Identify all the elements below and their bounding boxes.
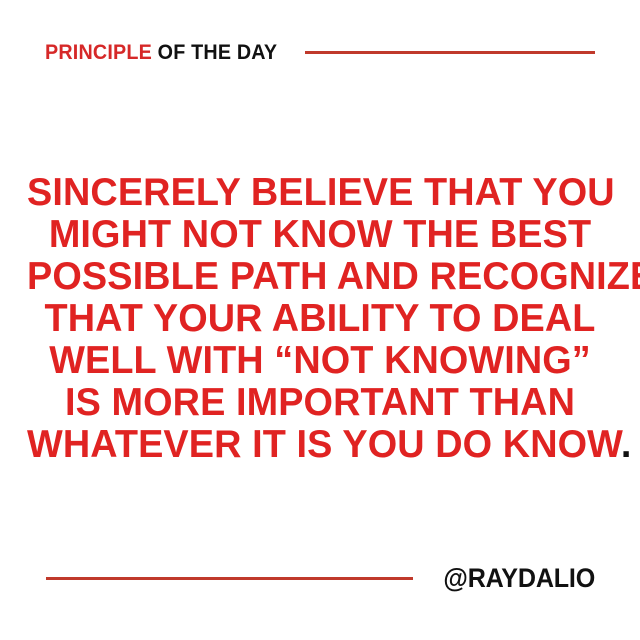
header-divider-rule	[305, 51, 595, 54]
quote-line: MIGHT NOT KNOW THE BEST	[27, 214, 613, 256]
quote-text-block: SINCERELY BELIEVE THAT YOU MIGHT NOT KNO…	[18, 172, 622, 466]
quote-line-final: WHATEVER IT IS YOU DO KNOW.	[27, 424, 613, 466]
author-handle[interactable]: @RAYDALIO	[443, 565, 595, 592]
header-kicker-rest: OF THE DAY	[152, 41, 277, 64]
quote-terminal-period: .	[621, 423, 632, 466]
quote-line: IS MORE IMPORTANT THAN	[27, 382, 613, 424]
header-kicker: PRINCIPLE OF THE DAY	[45, 42, 277, 63]
card-footer: @RAYDALIO	[46, 563, 595, 593]
quote-line: THAT YOUR ABILITY TO DEAL	[27, 298, 613, 340]
quote-card: PRINCIPLE OF THE DAY SINCERELY BELIEVE T…	[0, 0, 640, 640]
quote-line: SINCERELY BELIEVE THAT YOU	[27, 172, 613, 214]
quote-line: WELL WITH “NOT KNOWING”	[27, 340, 613, 382]
footer-divider-rule	[46, 577, 413, 580]
quote-line-final-text: WHATEVER IT IS YOU DO KNOW	[27, 423, 621, 466]
header-kicker-accent: PRINCIPLE	[45, 41, 152, 64]
quote-line: POSSIBLE PATH AND RECOGNIZE	[27, 256, 613, 298]
card-header: PRINCIPLE OF THE DAY	[45, 39, 595, 65]
